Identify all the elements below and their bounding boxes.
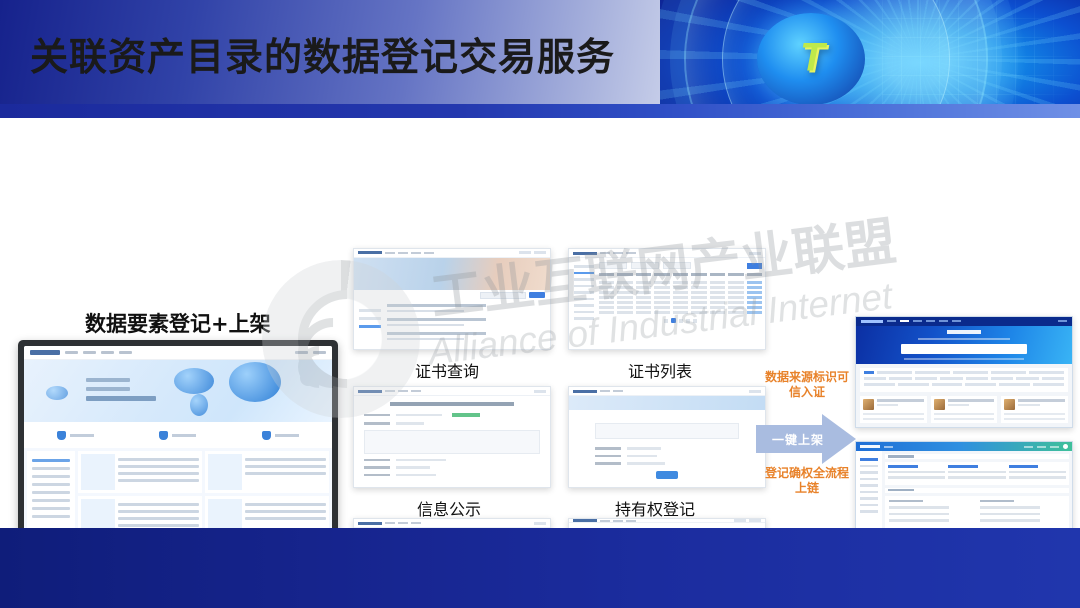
tv-screen-content [24,346,332,542]
slide-header: T 关联资产目录的数据登记交易服务 [0,0,1080,118]
marketplace-card [860,396,927,423]
one-click-listing-arrow: 一键上架 [756,414,856,464]
screenshot-ownership-registration[interactable] [568,386,766,488]
tv-mini-body [24,448,332,540]
tv-mini-navbar [24,346,332,360]
screenshot-information-disclosure[interactable] [353,386,551,488]
caption-certificate-query: 证书查询 [415,358,479,382]
screenshot-certificate-list[interactable] [568,248,766,350]
slide-footer: 2025工业互联网大会 INDUSTRIAL INTERNET CONFEREN… [0,528,1080,608]
tv-monitor [18,340,338,548]
tv-mini-hero [24,360,332,422]
screenshot-marketplace-portal[interactable] [855,316,1073,428]
alliance-watermark: 工业互联网产业联盟 Alliance of Industrial Interne… [250,246,870,431]
submit-button-thumb [656,471,678,479]
left-heading: 数据要素登记+上架 [85,308,271,338]
screenshot-certificate-query[interactable] [353,248,551,350]
slide-root: T 关联资产目录的数据登记交易服务 数据要素登记+上架 [0,0,1080,608]
header-tech-graphic: T [660,0,1080,118]
annotation-data-source: 数据来源标识可信入证 [763,370,851,400]
tv-mini-tabs [24,422,332,448]
tv-mini-logo-icon [30,350,60,355]
brand-t-logo-icon: T [800,36,822,81]
marketplace-card [931,396,998,423]
page-title: 关联资产目录的数据登记交易服务 [30,26,615,81]
caption-information-disclosure: 信息公示 [417,496,481,520]
annotation-on-chain: 登记确权全流程上链 [763,466,851,496]
caption-certificate-list: 证书列表 [628,358,692,382]
tv-mini-sidebar [27,451,75,537]
caption-ownership-registration: 持有权登记 [615,496,695,520]
marketplace-card [1001,396,1068,423]
header-accent-bar [0,104,1080,118]
